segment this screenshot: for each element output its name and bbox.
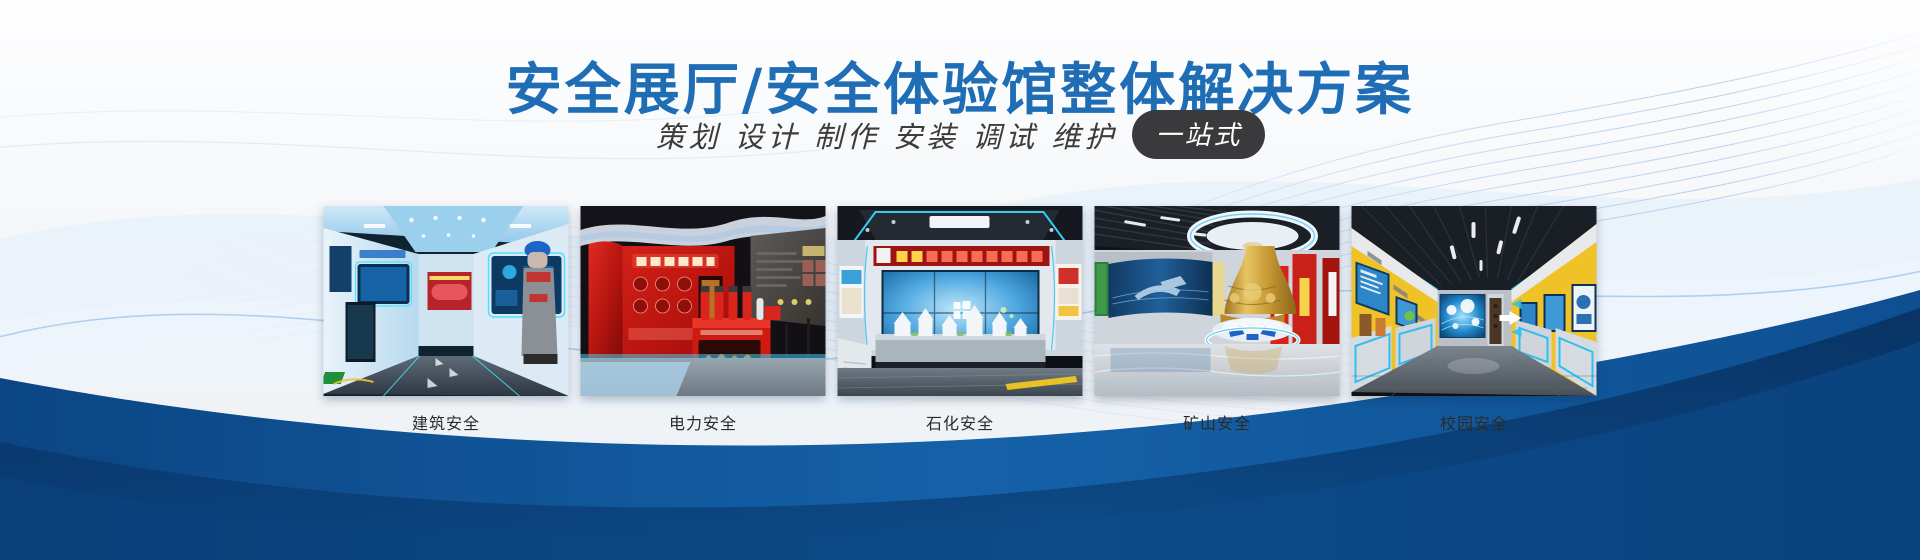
gallery-item[interactable]: 建筑安全 (324, 206, 569, 434)
exhibition-hall-image (838, 206, 1083, 396)
gallery-item-caption: 校园安全 (1352, 410, 1597, 434)
exhibition-hall-image (581, 206, 826, 396)
gallery-item-caption: 建筑安全 (324, 410, 569, 434)
subtitle-services: 策划 设计 制作 安装 调试 维护 (655, 114, 1117, 156)
gallery-item-caption: 矿山安全 (1095, 410, 1340, 434)
exhibition-hall-image (1095, 206, 1340, 396)
thumbnail-mine-safety[interactable] (1095, 206, 1340, 396)
thumbnail-campus-safety[interactable] (1352, 206, 1597, 396)
one-stop-badge: 一站式 (1132, 110, 1265, 159)
exhibition-hall-image (324, 206, 569, 396)
gallery-item[interactable]: 矿山安全 (1095, 206, 1340, 434)
gallery: 建筑安全 (324, 206, 1597, 434)
gallery-item[interactable]: 电力安全 (581, 206, 826, 434)
thumbnail-construction-safety[interactable] (324, 206, 569, 396)
gallery-item-caption: 石化安全 (838, 410, 1083, 434)
gallery-item[interactable]: 石化安全 (838, 206, 1083, 434)
thumbnail-electric-safety[interactable] (581, 206, 826, 396)
promo-banner: 安全展厅/安全体验馆整体解决方案 策划 设计 制作 安装 调试 维护 一站式 (0, 0, 1920, 560)
gallery-item-caption: 电力安全 (581, 410, 826, 434)
subtitle-container: 策划 设计 制作 安装 调试 维护 一站式 (0, 110, 1920, 159)
thumbnail-petrochemical-safety[interactable] (838, 206, 1083, 396)
gallery-item[interactable]: 校园安全 (1352, 206, 1597, 434)
exhibition-hall-image (1352, 206, 1597, 396)
